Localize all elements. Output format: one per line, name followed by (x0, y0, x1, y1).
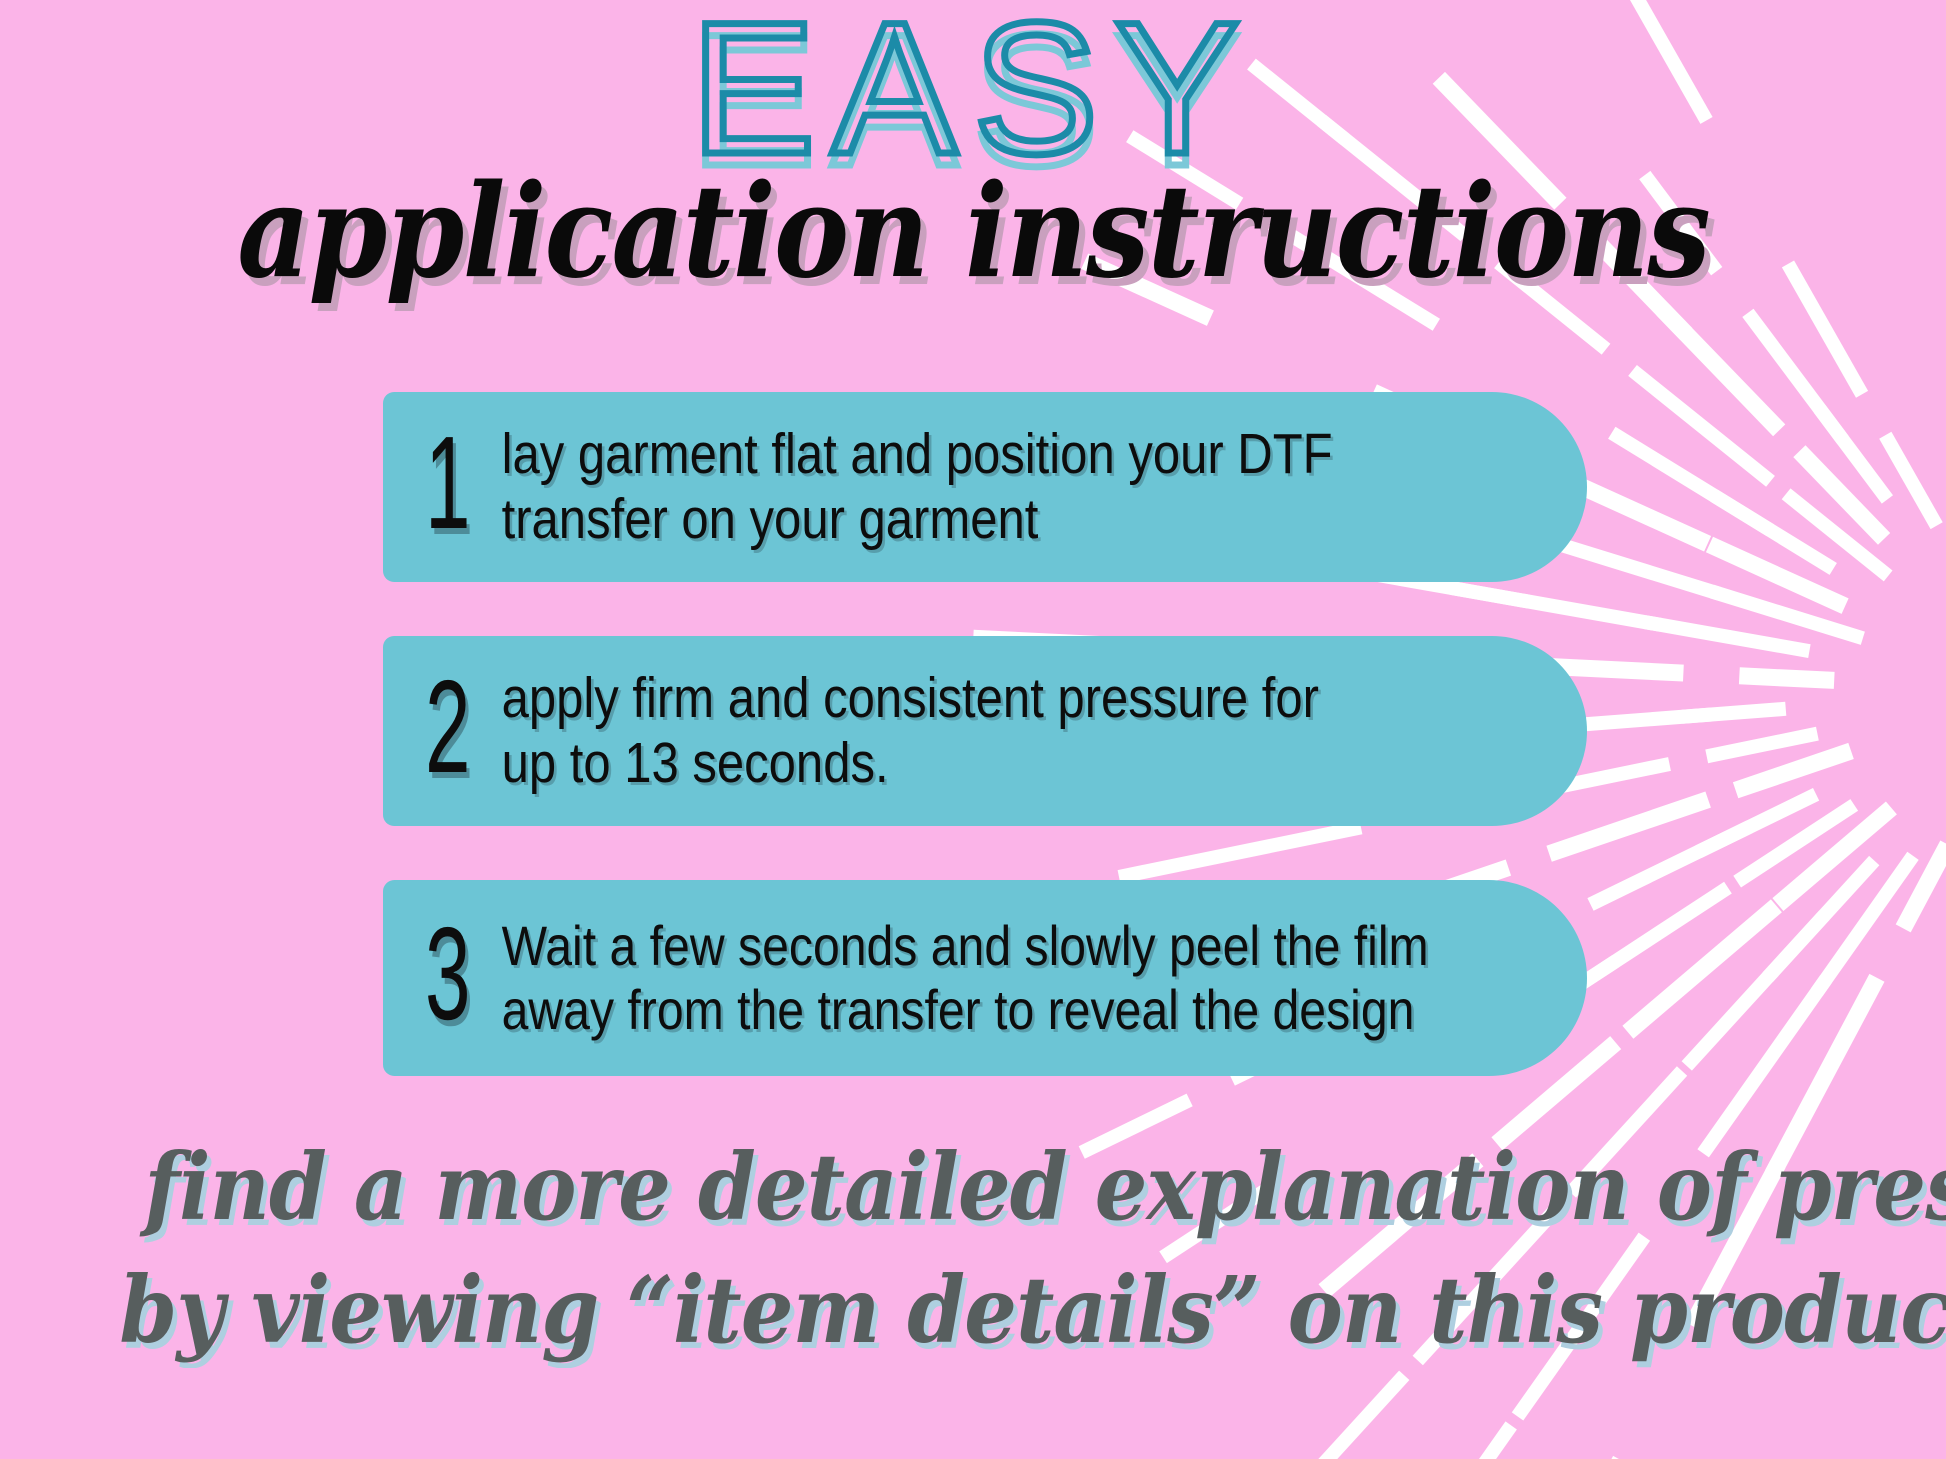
footer-line-2: by viewing “item details” on this produc… (119, 1249, 1946, 1372)
footer-note: find a more detailed explanation of pres… (0, 1126, 1946, 1373)
step-box-1: 1 lay garment flat and position your DTF… (383, 392, 1587, 582)
poster-canvas: EASY EASY application instructions 1 lay… (0, 0, 1946, 1459)
step-number-3: 3 (425, 908, 471, 1048)
step-number-1: 1 (425, 417, 471, 557)
step-text-1: lay garment flat and position your DTF t… (493, 422, 1434, 552)
step-text-2: apply firm and consistent pressure for u… (493, 666, 1434, 796)
step-number-2: 2 (425, 661, 471, 801)
step-text-3: Wait a few seconds and slowly peel the f… (493, 914, 1434, 1042)
step-box-3: 3 Wait a few seconds and slowly peel the… (383, 880, 1587, 1076)
subtitle-text: application instructions (237, 168, 1709, 296)
footer-line-1: find a more detailed explanation of pres… (144, 1126, 1946, 1249)
step-box-2: 2 apply firm and consistent pressure for… (383, 636, 1587, 826)
subtitle-wrap: application instructions (0, 168, 1946, 308)
easy-title: EASY (0, 0, 1946, 182)
